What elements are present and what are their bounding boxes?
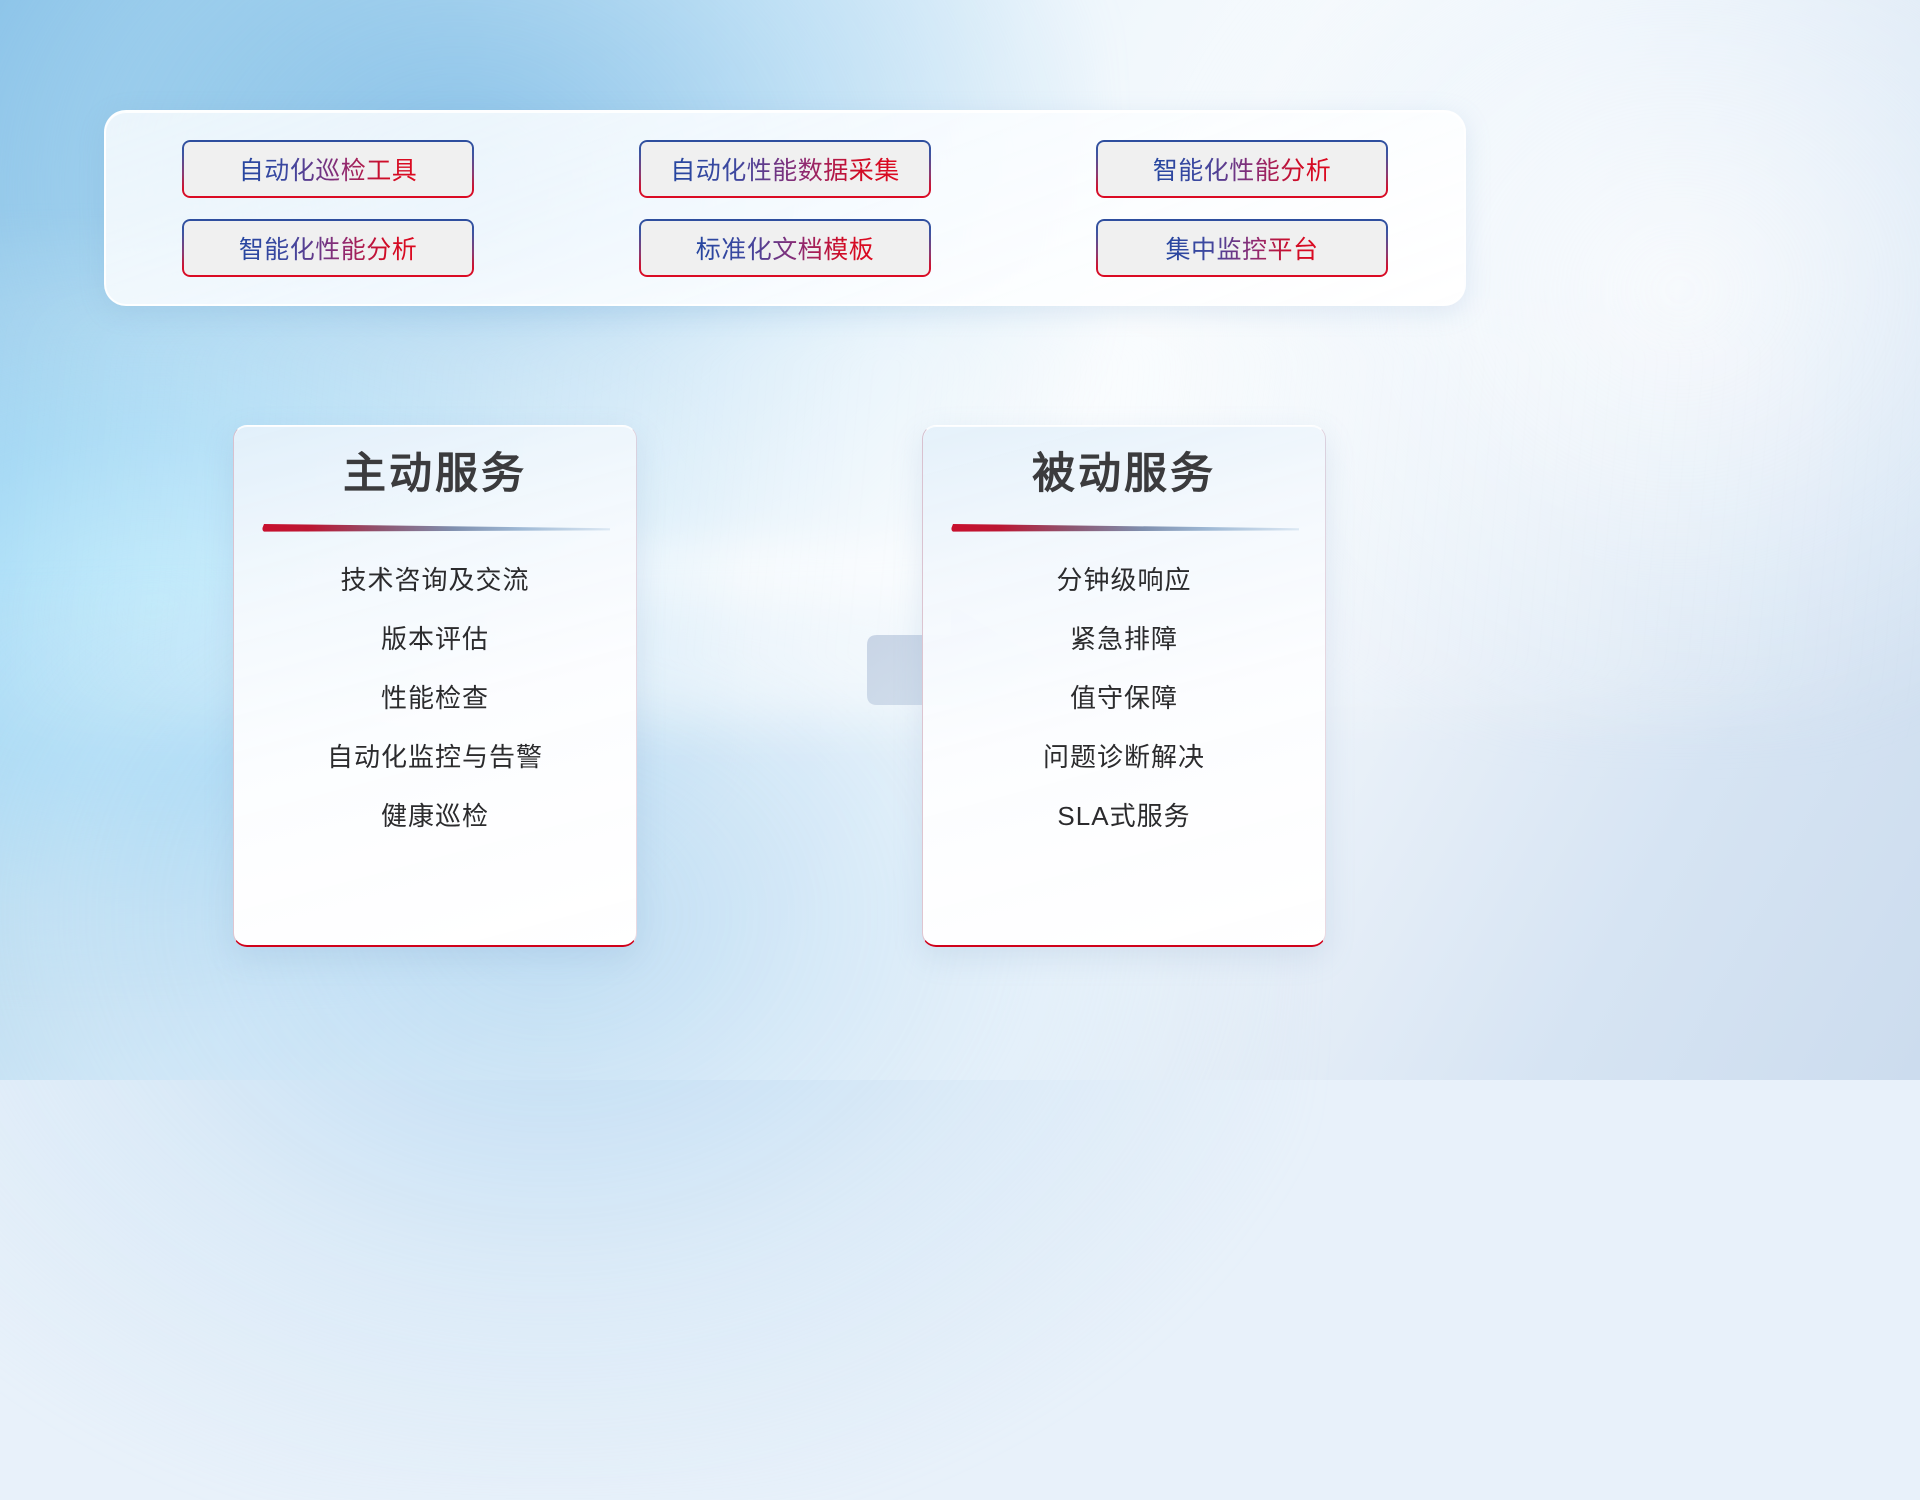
service-item[interactable]: SLA式服务 (951, 803, 1297, 829)
capability-tag-row-1: 自动化巡检工具 自动化性能数据采集 智能化性能分析 (182, 140, 1388, 198)
service-item[interactable]: 技术咨询及交流 (262, 567, 608, 593)
capability-tag-2[interactable]: 智能化性能分析 (1096, 140, 1388, 198)
service-card-divider (951, 522, 1299, 533)
capability-tag-label: 智能化性能分析 (1153, 151, 1332, 187)
service-item[interactable]: 值守保障 (951, 685, 1297, 711)
capability-tag-0[interactable]: 自动化巡检工具 (182, 140, 474, 198)
service-item[interactable]: 健康巡检 (262, 803, 608, 829)
service-card-passive: 被动服务 分钟级响应 紧急排障 值守保障 问题诊断解决 SLA式服务 (922, 425, 1326, 947)
capability-tag-4[interactable]: 标准化文档模板 (639, 219, 931, 277)
service-card-title: 被动服务 (951, 450, 1297, 499)
capability-tag-row-2: 智能化性能分析 标准化文档模板 集中监控平台 (182, 219, 1388, 277)
service-item[interactable]: 性能检查 (262, 685, 608, 711)
service-item[interactable]: 紧急排障 (951, 626, 1297, 652)
service-item-list: 技术咨询及交流 版本评估 性能检查 自动化监控与告警 健康巡检 (262, 567, 608, 829)
service-item-list: 分钟级响应 紧急排障 值守保障 问题诊断解决 SLA式服务 (951, 567, 1297, 829)
service-card-divider (262, 522, 610, 533)
capability-tag-label: 自动化巡检工具 (239, 151, 418, 187)
capability-tag-panel: 自动化巡检工具 自动化性能数据采集 智能化性能分析 智能化性能分析 标准化文档模… (104, 110, 1466, 306)
capability-tag-5[interactable]: 集中监控平台 (1096, 219, 1388, 277)
service-card-title: 主动服务 (262, 450, 608, 499)
service-item[interactable]: 分钟级响应 (951, 567, 1297, 593)
service-card-active: 主动服务 技术咨询及交流 版本评估 性能检查 自动化监控与告警 健康巡检 (233, 425, 637, 947)
capability-tag-label: 智能化性能分析 (239, 230, 418, 266)
service-item[interactable]: 问题诊断解决 (951, 744, 1297, 770)
service-item[interactable]: 版本评估 (262, 626, 608, 652)
capability-tag-3[interactable]: 智能化性能分析 (182, 219, 474, 277)
service-item[interactable]: 自动化监控与告警 (262, 744, 608, 770)
capability-tag-label: 集中监控平台 (1165, 230, 1318, 266)
capability-tag-label: 自动化性能数据采集 (670, 151, 900, 187)
capability-tag-label: 标准化文档模板 (696, 230, 875, 266)
capability-tag-1[interactable]: 自动化性能数据采集 (639, 140, 931, 198)
